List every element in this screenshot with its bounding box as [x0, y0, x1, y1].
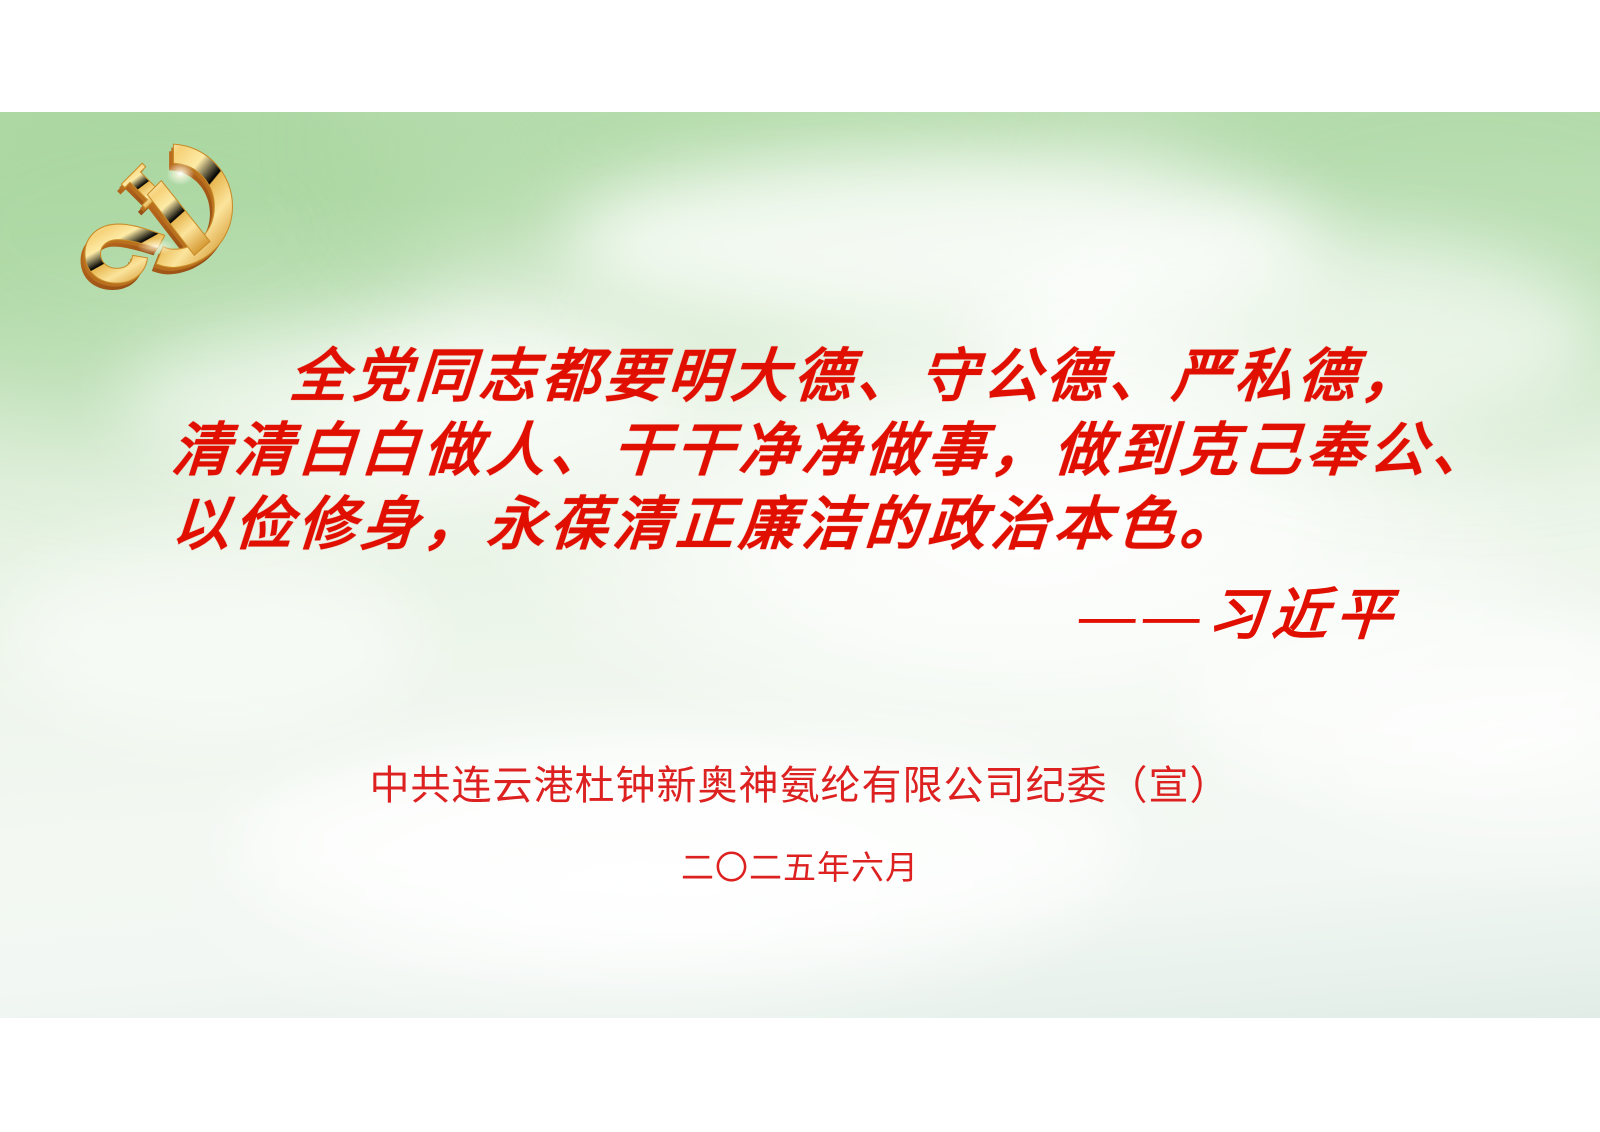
- green-tint-top: [380, 112, 1140, 292]
- poster-page: 全党同志都要明大德、守公德、严私德， 清清白白做人、干干净净做事，做到克己奉公、…: [0, 0, 1600, 1132]
- quote-line-3: 以俭修身，永葆清正廉洁的政治本色。: [0, 488, 1600, 562]
- emblem-sparkle-lower: [137, 239, 175, 255]
- quote-block: 全党同志都要明大德、守公德、严私德， 清清白白做人、干干净净做事，做到克己奉公、…: [0, 340, 1600, 648]
- signature-block: 中共连云港杜钟新奥神氨纶有限公司纪委（宣） 二〇二五年六月: [0, 760, 1600, 890]
- quote-line-1: 全党同志都要明大德、守公德、严私德，: [0, 340, 1600, 414]
- quote-line-2: 清清白白做人、干干净净做事，做到克己奉公、: [0, 414, 1600, 488]
- emblem-sparkle: [167, 162, 195, 185]
- cpc-emblem-icon: [80, 132, 260, 297]
- quote-attribution: ——习近平: [0, 584, 1600, 648]
- issue-date: 二〇二五年六月: [0, 846, 1600, 890]
- poster-canvas: 全党同志都要明大德、守公德、严私德， 清清白白做人、干干净净做事，做到克己奉公、…: [0, 112, 1600, 1018]
- issuing-organization: 中共连云港杜钟新奥神氨纶有限公司纪委（宣）: [0, 760, 1600, 812]
- cloud-wisp-top-center: [560, 152, 1320, 332]
